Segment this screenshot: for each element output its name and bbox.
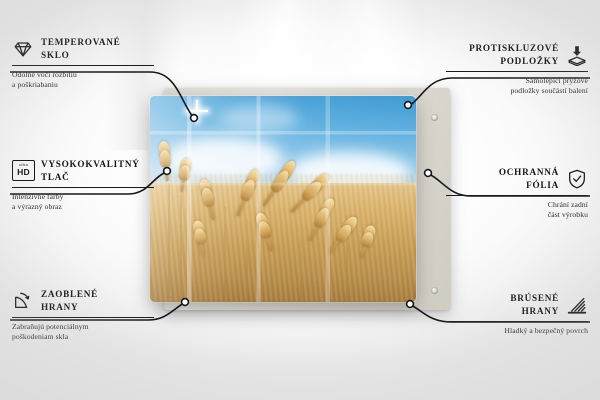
feature-sub-line2: část výrobku bbox=[438, 210, 588, 220]
feature-sub-line1: Intenzívne farby bbox=[12, 192, 162, 202]
feature-sub-line1: Chrání zadní bbox=[438, 200, 588, 210]
divider-rule bbox=[12, 65, 154, 66]
artwork-wheat-field bbox=[150, 96, 416, 302]
feature-rounded-edges: ZAOBLENÉ HRANY Zabraňujú potenciálnym po… bbox=[12, 288, 162, 342]
mounting-hole-top bbox=[431, 114, 438, 121]
rounded-corner-icon bbox=[12, 290, 34, 312]
divider-rule bbox=[446, 71, 588, 72]
feature-title-line2: SKLO bbox=[41, 49, 121, 62]
feature-sub-line2: podložky součástí balení bbox=[438, 86, 588, 96]
product-image bbox=[150, 88, 450, 313]
feature-sub-line2: a poškriabaniu bbox=[12, 80, 162, 90]
feature-title-line2: PODLOŽKY bbox=[469, 55, 559, 68]
ground-edge-icon bbox=[566, 294, 588, 316]
feature-title-line2: HRANY bbox=[510, 305, 559, 318]
feature-title-line2: TLAČ bbox=[41, 171, 140, 184]
feature-sub-line1: Odolné voči rozbitiu bbox=[12, 70, 162, 80]
feature-title-line1: BRÚSENÉ bbox=[510, 292, 559, 305]
feature-sub-line2: poškodeniam skla bbox=[12, 332, 162, 342]
feature-sub-line1: Zabraňujú potenciálnym bbox=[12, 322, 162, 332]
feature-title-line1: VYSOKOKVALITNÝ bbox=[41, 158, 140, 171]
feature-protective-foil: OCHRANNÁ FÓLIA Chrání zadní část výrobku bbox=[438, 166, 588, 220]
feature-tempered-glass: TEMPEROVANÉ SKLO Odolné voči rozbitiu a … bbox=[12, 36, 162, 90]
feature-title-line1: ZAOBLENÉ bbox=[41, 288, 98, 301]
field-texture bbox=[150, 174, 416, 302]
divider-rule bbox=[446, 195, 588, 196]
feature-anti-slip-pads: PROTISKLUZOVÉ PODLOŽKY Samolepící pryžov… bbox=[438, 42, 588, 96]
infographic-canvas: TEMPEROVANÉ SKLO Odolné voči rozbitiu a … bbox=[0, 0, 600, 400]
shield-check-icon bbox=[566, 168, 588, 190]
feature-title-line1: OCHRANNÁ bbox=[499, 166, 559, 179]
mounting-hole-bottom bbox=[431, 287, 438, 294]
divider-rule bbox=[12, 187, 154, 188]
feature-sub-line1: Samolepící pryžové bbox=[438, 76, 588, 86]
anti-slip-pad-icon bbox=[566, 44, 588, 66]
feature-title-line1: TEMPEROVANÉ bbox=[41, 36, 121, 49]
feature-sub-line1: Hladký a bezpečný povrch bbox=[438, 326, 588, 336]
tempered-glass-panel bbox=[150, 96, 416, 302]
ultra-hd-icon: ultra HD bbox=[12, 160, 34, 182]
feature-title-line1: PROTISKLUZOVÉ bbox=[469, 42, 559, 55]
feature-high-quality-print: ultra HD VYSOKOKVALITNÝ TLAČ Intenzívne … bbox=[12, 158, 162, 212]
feature-sub-line2: a výrazný obraz bbox=[12, 202, 162, 212]
ultra-hd-large-text: HD bbox=[17, 168, 30, 177]
divider-rule bbox=[12, 317, 154, 318]
feature-title-line2: FÓLIA bbox=[499, 179, 559, 192]
diamond-icon bbox=[12, 38, 34, 60]
divider-rule bbox=[446, 321, 588, 322]
feature-title-line2: HRANY bbox=[41, 301, 98, 314]
feature-ground-edges: BRÚSENÉ HRANY Hladký a bezpečný povrch bbox=[438, 292, 588, 336]
